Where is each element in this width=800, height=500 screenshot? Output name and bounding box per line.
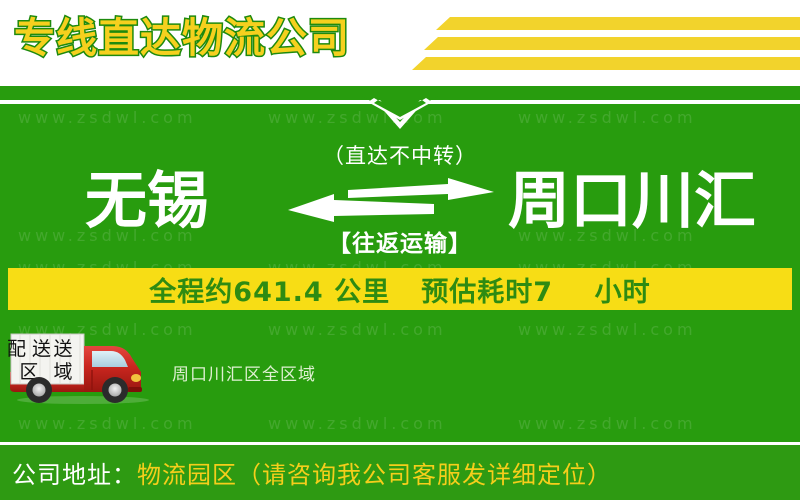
watermark-text: www.zsdwl.com (518, 414, 697, 433)
origin-city: 无锡 (85, 161, 209, 241)
company-address-value: 物流园区（请咨询我公司客服发详细定位） (137, 455, 612, 490)
header-stripe-3 (412, 57, 800, 70)
svg-text:送: 送 (53, 338, 72, 360)
svg-text:域: 域 (53, 361, 72, 383)
banner-footer: 公司地址： 物流园区（请咨询我公司客服发详细定位） (0, 445, 800, 500)
banner-body: www.zsdwl.com www.zsdwl.com www.zsdwl.co… (0, 86, 800, 442)
watermark-text: www.zsdwl.com (18, 108, 197, 127)
banner-header: 专线直达物流公司 (0, 0, 800, 86)
distance-duration-band: 全程约641.4 公里 预估耗时7 小时 (8, 268, 792, 310)
distance-duration-text: 全程约641.4 公里 预估耗时7 小时 (149, 270, 650, 309)
watermark-text: www.zsdwl.com (268, 320, 447, 339)
company-title: 专线直达物流公司 (14, 8, 350, 68)
delivery-area-text: 周口川汇区全区域 (172, 360, 316, 385)
header-stripe-1 (436, 17, 800, 30)
truck-label-line1: 配 送 (8, 338, 51, 360)
top-divider-right (448, 100, 800, 104)
logistics-route-banner: 专线直达物流公司 www.zsdwl.com www.zsdwl.com www… (0, 0, 800, 500)
header-stripe-2 (424, 37, 800, 50)
watermark-text: www.zsdwl.com (518, 108, 697, 127)
top-divider-left (0, 100, 352, 104)
watermark-text: www.zsdwl.com (268, 414, 447, 433)
delivery-truck-icon: 配 送 送 区 域 (8, 330, 158, 404)
roundtrip-note: 【往返运输】 (280, 224, 520, 258)
destination-city: 周口川汇 (508, 161, 756, 241)
chevron-down-icon (344, 96, 456, 132)
company-address-label: 公司地址： (0, 455, 137, 490)
watermark-text: www.zsdwl.com (518, 320, 697, 339)
watermark-text: www.zsdwl.com (18, 414, 197, 433)
direct-service-note: （直达不中转） (280, 140, 520, 170)
bidirectional-arrow-icon (288, 178, 494, 222)
